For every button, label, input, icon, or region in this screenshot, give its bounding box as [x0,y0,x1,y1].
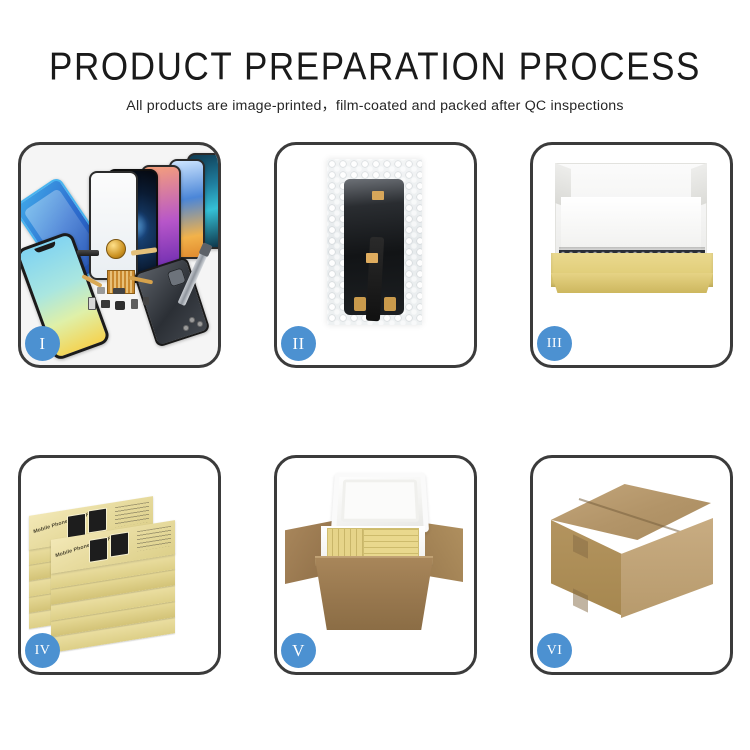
small-part-3 [115,301,125,310]
small-part-7 [143,297,149,305]
small-part-2 [101,300,110,308]
speaker-coil-part [106,239,126,259]
step-badge-1: I [25,326,60,361]
box-window-front-1 [89,537,108,563]
foam-lid [331,472,429,532]
step-badge-5-label: V [292,641,305,661]
step-panel-4: Mobile Phone Spare Parts Mobile Phone [18,455,221,675]
step-badge-4: IV [25,633,60,668]
connector-tip-left [354,297,366,311]
step-badge-3: III [537,326,572,361]
yellow-boxes-row-right [363,528,419,559]
box-spec-lines-back [115,502,149,527]
step-panel-5: V [274,455,477,675]
screen-flex-cable [366,237,384,322]
small-part-6 [97,287,105,294]
step-badge-1-label: I [39,334,45,354]
box-window-front-2 [110,531,129,557]
step-badge-4-label: IV [35,643,51,659]
small-part-5 [113,288,125,294]
connector-tip-right [384,297,396,311]
box-window-back-2 [88,507,107,533]
step-panel-6: VI [530,455,733,675]
screw-3 [183,325,189,331]
step-panel-2: II [274,142,477,368]
infographic-page: PRODUCT PREPARATION PROCESS All products… [0,0,750,750]
carton-body [315,558,433,630]
kraft-box-front-panel [551,273,713,293]
step-badge-6-label: VI [547,643,563,659]
small-part-1 [88,297,96,310]
screw-1 [189,317,195,323]
tempered-glass-protector [89,171,138,280]
box-stack: Mobile Phone Spare Parts Mobile Phone [27,482,213,634]
step-badge-6: VI [537,633,572,668]
step-panel-1: I [18,142,221,368]
step-panel-3: III [530,142,733,368]
earpiece-bar-part [77,250,99,256]
step-badge-5: V [281,633,316,668]
phone-notch [34,242,56,254]
step-badge-2: II [281,326,316,361]
process-step-grid: I II [0,0,750,750]
lcd-screen-assembly [344,179,404,315]
screw-2 [197,321,203,327]
adhesive-tape-top [372,191,384,200]
small-part-4 [131,299,138,309]
bubble-wrap-bag [327,159,422,325]
step-badge-2-label: II [292,334,304,354]
step-badge-3-label: III [547,336,563,352]
adhesive-tape-middle [366,253,378,263]
box-spec-lines-front [137,526,171,551]
